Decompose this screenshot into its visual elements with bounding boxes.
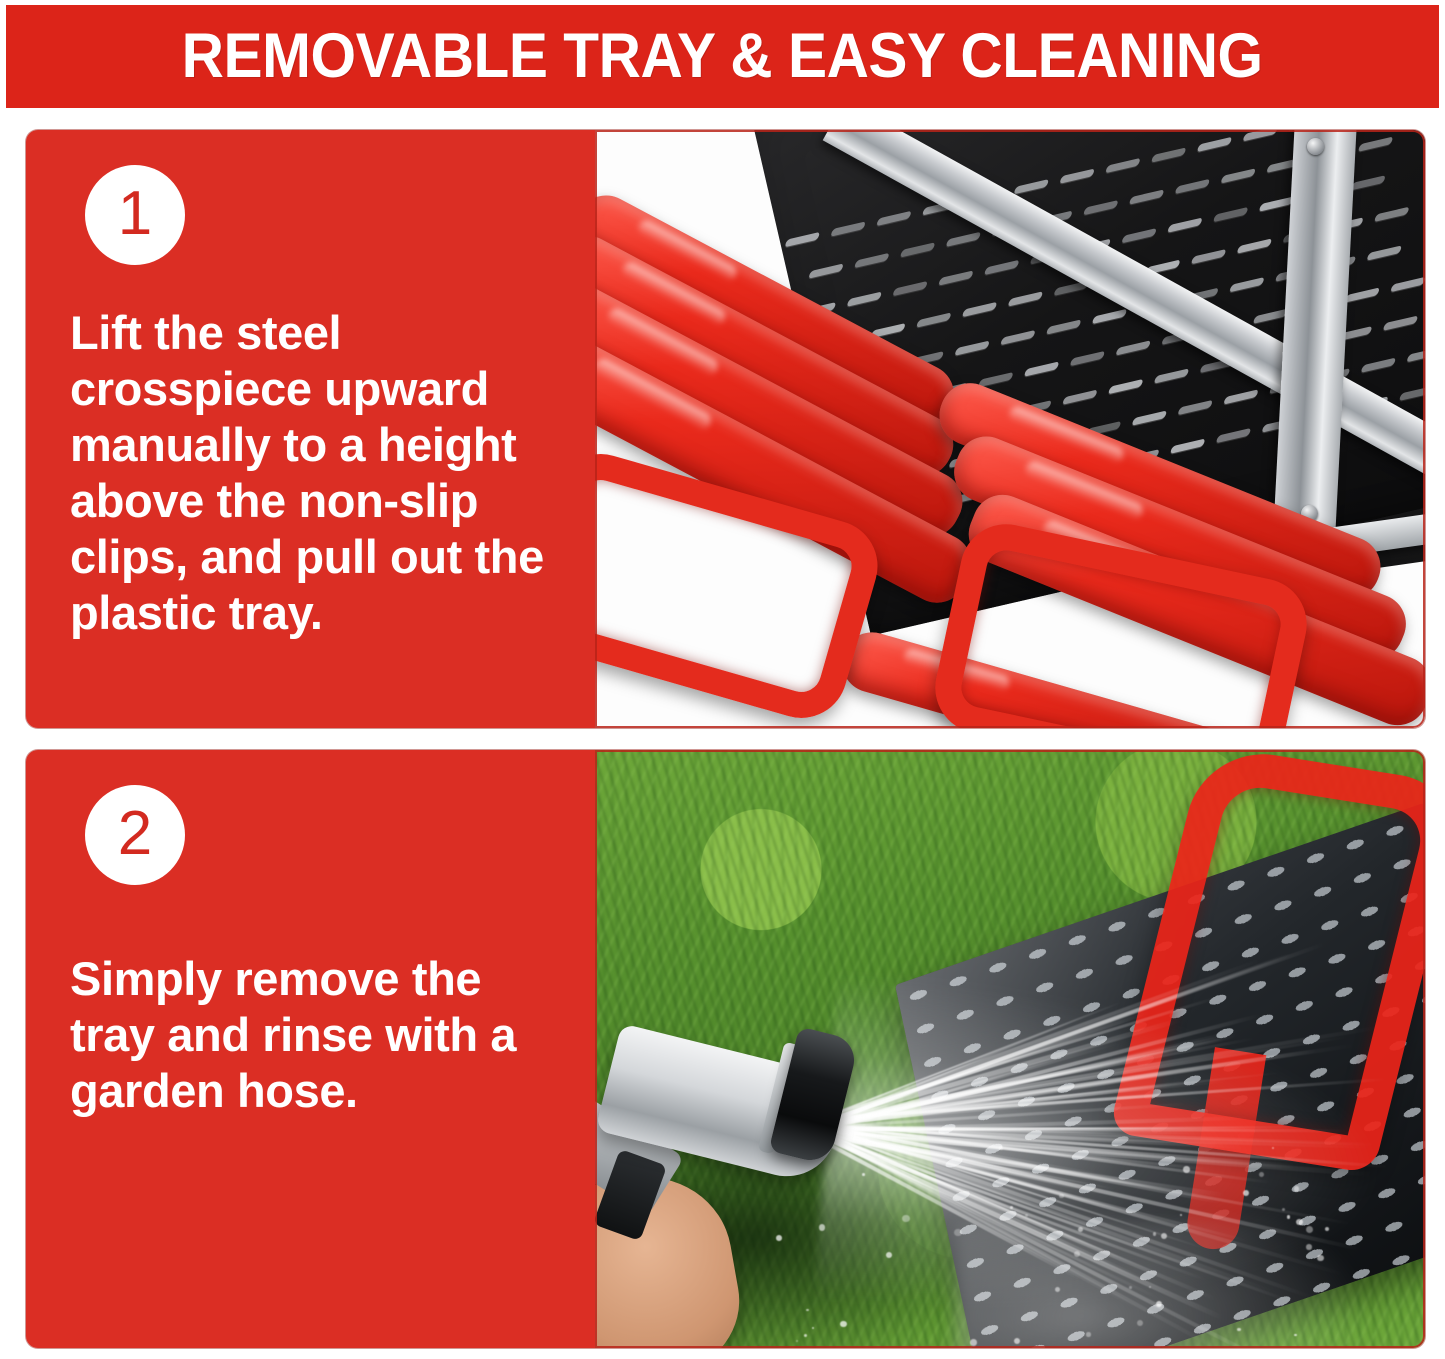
- tray-slot: [1253, 308, 1289, 323]
- water-droplet: [970, 1339, 976, 1345]
- tray-slot: [1024, 361, 1060, 376]
- tray-slot: [1223, 389, 1259, 404]
- tray-slot: [1070, 351, 1106, 366]
- water-droplet: [1237, 1328, 1241, 1332]
- water-droplet: [954, 1229, 962, 1237]
- tray-slot: [1046, 319, 1082, 334]
- header-banner: REMOVABLE TRAY & EASY CLEANING: [6, 5, 1439, 108]
- tray-slot: [1259, 196, 1295, 211]
- step-panel-2: 2 Simply remove the tray and rinse with …: [26, 750, 1425, 1348]
- step-1-text-column: 1 Lift the steel crosspiece upward manua…: [26, 130, 595, 728]
- step-2-text-column: 2 Simply remove the tray and rinse with …: [26, 750, 595, 1348]
- tray-slot: [962, 302, 998, 317]
- tray-slot: [984, 260, 1020, 275]
- step-1-number: 1: [118, 183, 152, 245]
- tray-slot: [1358, 136, 1394, 151]
- tray-slot: [946, 232, 982, 247]
- water-droplet: [1156, 1301, 1162, 1307]
- tray-slot: [854, 253, 890, 268]
- tray-slot: [1236, 238, 1272, 253]
- tray-slot: [954, 340, 990, 355]
- tray-slot: [1174, 179, 1210, 194]
- water-droplet: [1078, 1227, 1083, 1232]
- tray-slot: [1083, 200, 1119, 215]
- water-droplet: [1306, 1244, 1311, 1249]
- tray-slot: [1213, 207, 1249, 222]
- tray-slot: [1062, 389, 1098, 404]
- tray-slot: [978, 372, 1014, 387]
- tray-slot: [916, 312, 952, 327]
- step-panel-1: 1 Lift the steel crosspiece upward manua…: [26, 130, 1425, 728]
- water-droplet: [1306, 1226, 1313, 1233]
- water-droplet: [865, 1139, 868, 1142]
- water-droplet: [1287, 1215, 1290, 1218]
- tray-slot: [900, 242, 936, 257]
- tray-slot: [1092, 309, 1128, 324]
- tray-slot: [938, 270, 974, 285]
- tray-slot: [1383, 315, 1419, 330]
- step-2-number-badge: 2: [85, 785, 185, 885]
- tray-slot: [1000, 330, 1036, 345]
- tray-slot: [1154, 368, 1190, 383]
- tray-slot: [1129, 189, 1165, 204]
- tray-slot: [1399, 386, 1425, 401]
- tray-slot: [1115, 340, 1151, 355]
- tray-slot: [1170, 438, 1206, 453]
- water-droplet: [1183, 1166, 1189, 1172]
- tray-slot: [808, 263, 844, 278]
- water-droplet: [1059, 1194, 1063, 1198]
- step-1-instruction: Lift the steel crosspiece upward manuall…: [70, 305, 573, 641]
- tray-slot: [1344, 287, 1380, 302]
- step-2-number: 2: [118, 803, 152, 865]
- tray-slot: [1406, 347, 1425, 362]
- water-droplet: [1086, 1332, 1090, 1336]
- step-1-number-badge: 1: [85, 165, 185, 265]
- water-droplet: [819, 1224, 826, 1231]
- water-droplet: [1153, 1232, 1157, 1236]
- tray-slot: [1350, 175, 1386, 190]
- tray-slot: [1374, 207, 1410, 222]
- step-2-instruction: Simply remove the tray and rinse with a …: [70, 951, 573, 1119]
- water-droplet: [1294, 1334, 1296, 1336]
- water-droplet: [1259, 1172, 1264, 1177]
- tray-slot: [1360, 358, 1396, 373]
- tray-slot: [1229, 277, 1265, 292]
- water-droplet: [1137, 1320, 1143, 1326]
- water-droplet: [902, 1215, 910, 1223]
- tray-slot: [1121, 228, 1157, 243]
- water-droplet: [840, 1321, 847, 1328]
- hose-rinse-photo: [595, 750, 1425, 1348]
- tray-slot: [846, 291, 882, 306]
- tray-slot: [892, 281, 928, 296]
- water-mist: [955, 1220, 1375, 1348]
- tray-slot: [1390, 277, 1425, 292]
- page-title: REMOVABLE TRAY & EASY CLEANING: [182, 25, 1263, 88]
- tray-slot: [1191, 249, 1227, 264]
- tray-slot: [1167, 217, 1203, 232]
- tray-slot: [1216, 428, 1252, 443]
- tray-slot: [1366, 245, 1402, 260]
- water-droplet: [776, 1235, 782, 1241]
- screw-icon: [1307, 138, 1324, 155]
- water-droplet: [1129, 1286, 1132, 1289]
- tray-slot: [1008, 291, 1044, 306]
- tray-slot: [1220, 168, 1256, 183]
- tray-slot: [1177, 400, 1213, 415]
- water-droplet: [1296, 1219, 1303, 1226]
- step-2-photo: [595, 750, 1425, 1348]
- water-droplet: [804, 1334, 807, 1337]
- tray-slot: [1108, 379, 1144, 394]
- tray-removal-photo: [595, 130, 1425, 728]
- tray-slot: [1131, 410, 1167, 425]
- step-1-photo: [595, 130, 1425, 728]
- water-droplet: [862, 1173, 865, 1176]
